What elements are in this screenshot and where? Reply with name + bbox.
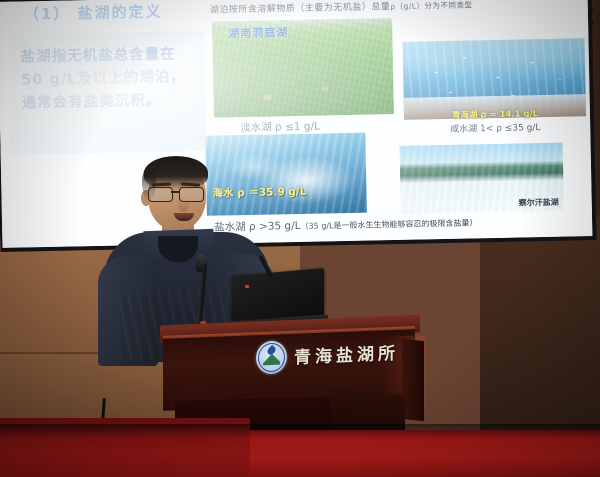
slide-top-caption-symbol: ρ（g/L）分为不同类型: [390, 0, 472, 11]
slide-top-caption-main: 湖泊按所含溶解物质（主要为无机盐）总量: [210, 2, 391, 16]
slide-top-caption: 湖泊按所含溶解物质（主要为无机盐）总量ρ（g/L）分为不同类型: [210, 0, 473, 16]
podium-institute-name: 青海盐湖所: [294, 339, 399, 368]
eyeglasses-icon: [146, 187, 208, 200]
wall-right-lower: [480, 215, 600, 445]
presenter-eyebrows: [152, 183, 200, 186]
presentation-photo-scene: （1） 盐湖的定义 盐湖指无机盐总含量在 50 g/L及以上的湖泊，通常会有盐类…: [0, 0, 600, 477]
presenter-nose: [178, 198, 189, 212]
laptop-logo-indicator: [245, 285, 249, 288]
photo-label-qinghai-lake: 青海湖 ρ = 14.1 g/L: [452, 107, 538, 121]
caption-freshwater-lake: 淡水湖 ρ ≤1 g/L: [240, 119, 320, 136]
projection-screen: （1） 盐湖的定义 盐湖指无机盐总含量在 50 g/L及以上的湖泊，通常会有盐类…: [0, 0, 592, 248]
podium-side-panel: [402, 339, 424, 421]
slide-definition-callout: 盐湖指无机盐总含量在 50 g/L及以上的湖泊，通常会有盐类沉积。: [8, 31, 206, 155]
presentation-slide: （1） 盐湖的定义 盐湖指无机盐总含量在 50 g/L及以上的湖泊，通常会有盐类…: [0, 0, 592, 248]
caption-brackish-lake: 咸水湖 1< ρ ≤35 g/L: [450, 120, 540, 135]
photo-label-hunan-dongting-lake: 湖南洞庭湖: [228, 24, 288, 41]
photo-chaerhan-salt-lake: 察尔汗盐湖: [400, 143, 564, 214]
slide-title: （1） 盐湖的定义: [24, 1, 163, 25]
slide-definition-text: 盐湖指无机盐总含量在 50 g/L及以上的湖泊，通常会有盐类沉积。: [8, 31, 206, 116]
photo-label-chaerhan-salt-lake: 察尔汗盐湖: [519, 197, 559, 209]
caption-salt-lake-note: （35 g/L是一般水生生物能够容忍的极限含盐量）: [300, 218, 477, 231]
floor-shadow: [0, 424, 600, 438]
